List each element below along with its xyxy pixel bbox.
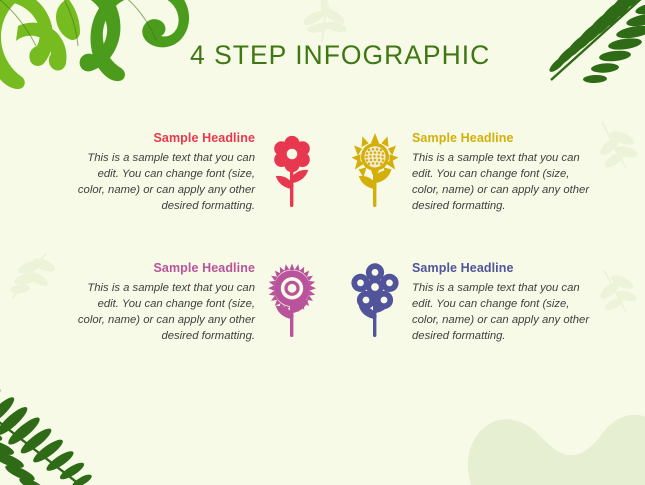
step-item-3[interactable]: Sample Headline This is a sample text th… (72, 261, 322, 344)
step-1-headline: Sample Headline (72, 131, 255, 146)
organic-blob-shape (431, 389, 645, 485)
step-item-1[interactable]: Sample Headline This is a sample text th… (72, 131, 322, 214)
step-item-4[interactable]: Sample Headline This is a sample text th… (348, 261, 598, 344)
fern-frond-icon (0, 387, 120, 485)
step-4-text: Sample Headline This is a sample text th… (412, 261, 595, 344)
step-4-body: This is a sample text that you can edit.… (412, 280, 595, 344)
five-petal-flower-icon (348, 261, 402, 339)
step-2-text: Sample Headline This is a sample text th… (412, 131, 595, 214)
step-1-body: This is a sample text that you can edit.… (72, 150, 255, 214)
steps-grid: Sample Headline This is a sample text th… (0, 131, 645, 391)
step-3-text: Sample Headline This is a sample text th… (72, 261, 255, 344)
step-1-text: Sample Headline This is a sample text th… (72, 131, 255, 214)
page-title: 4 STEP INFOGRAPHIC (190, 40, 490, 71)
monstera-leaf-cluster-icon (0, 0, 196, 106)
step-4-headline: Sample Headline (412, 261, 595, 276)
spiky-flower-icon (265, 261, 319, 339)
step-3-headline: Sample Headline (72, 261, 255, 276)
steps-row-bottom: Sample Headline This is a sample text th… (0, 261, 645, 391)
step-2-body: This is a sample text that you can edit.… (412, 150, 595, 214)
step-item-2[interactable]: Sample Headline This is a sample text th… (348, 131, 598, 214)
steps-row-top: Sample Headline This is a sample text th… (0, 131, 645, 261)
step-2-headline: Sample Headline (412, 131, 595, 146)
sunflower-icon (348, 131, 402, 209)
slide-canvas: 4 STEP INFOGRAPHIC Sample Headline This … (0, 0, 645, 485)
fern-frond-icon (515, 0, 645, 92)
daisy-flower-icon (265, 131, 319, 209)
step-3-body: This is a sample text that you can edit.… (72, 280, 255, 344)
